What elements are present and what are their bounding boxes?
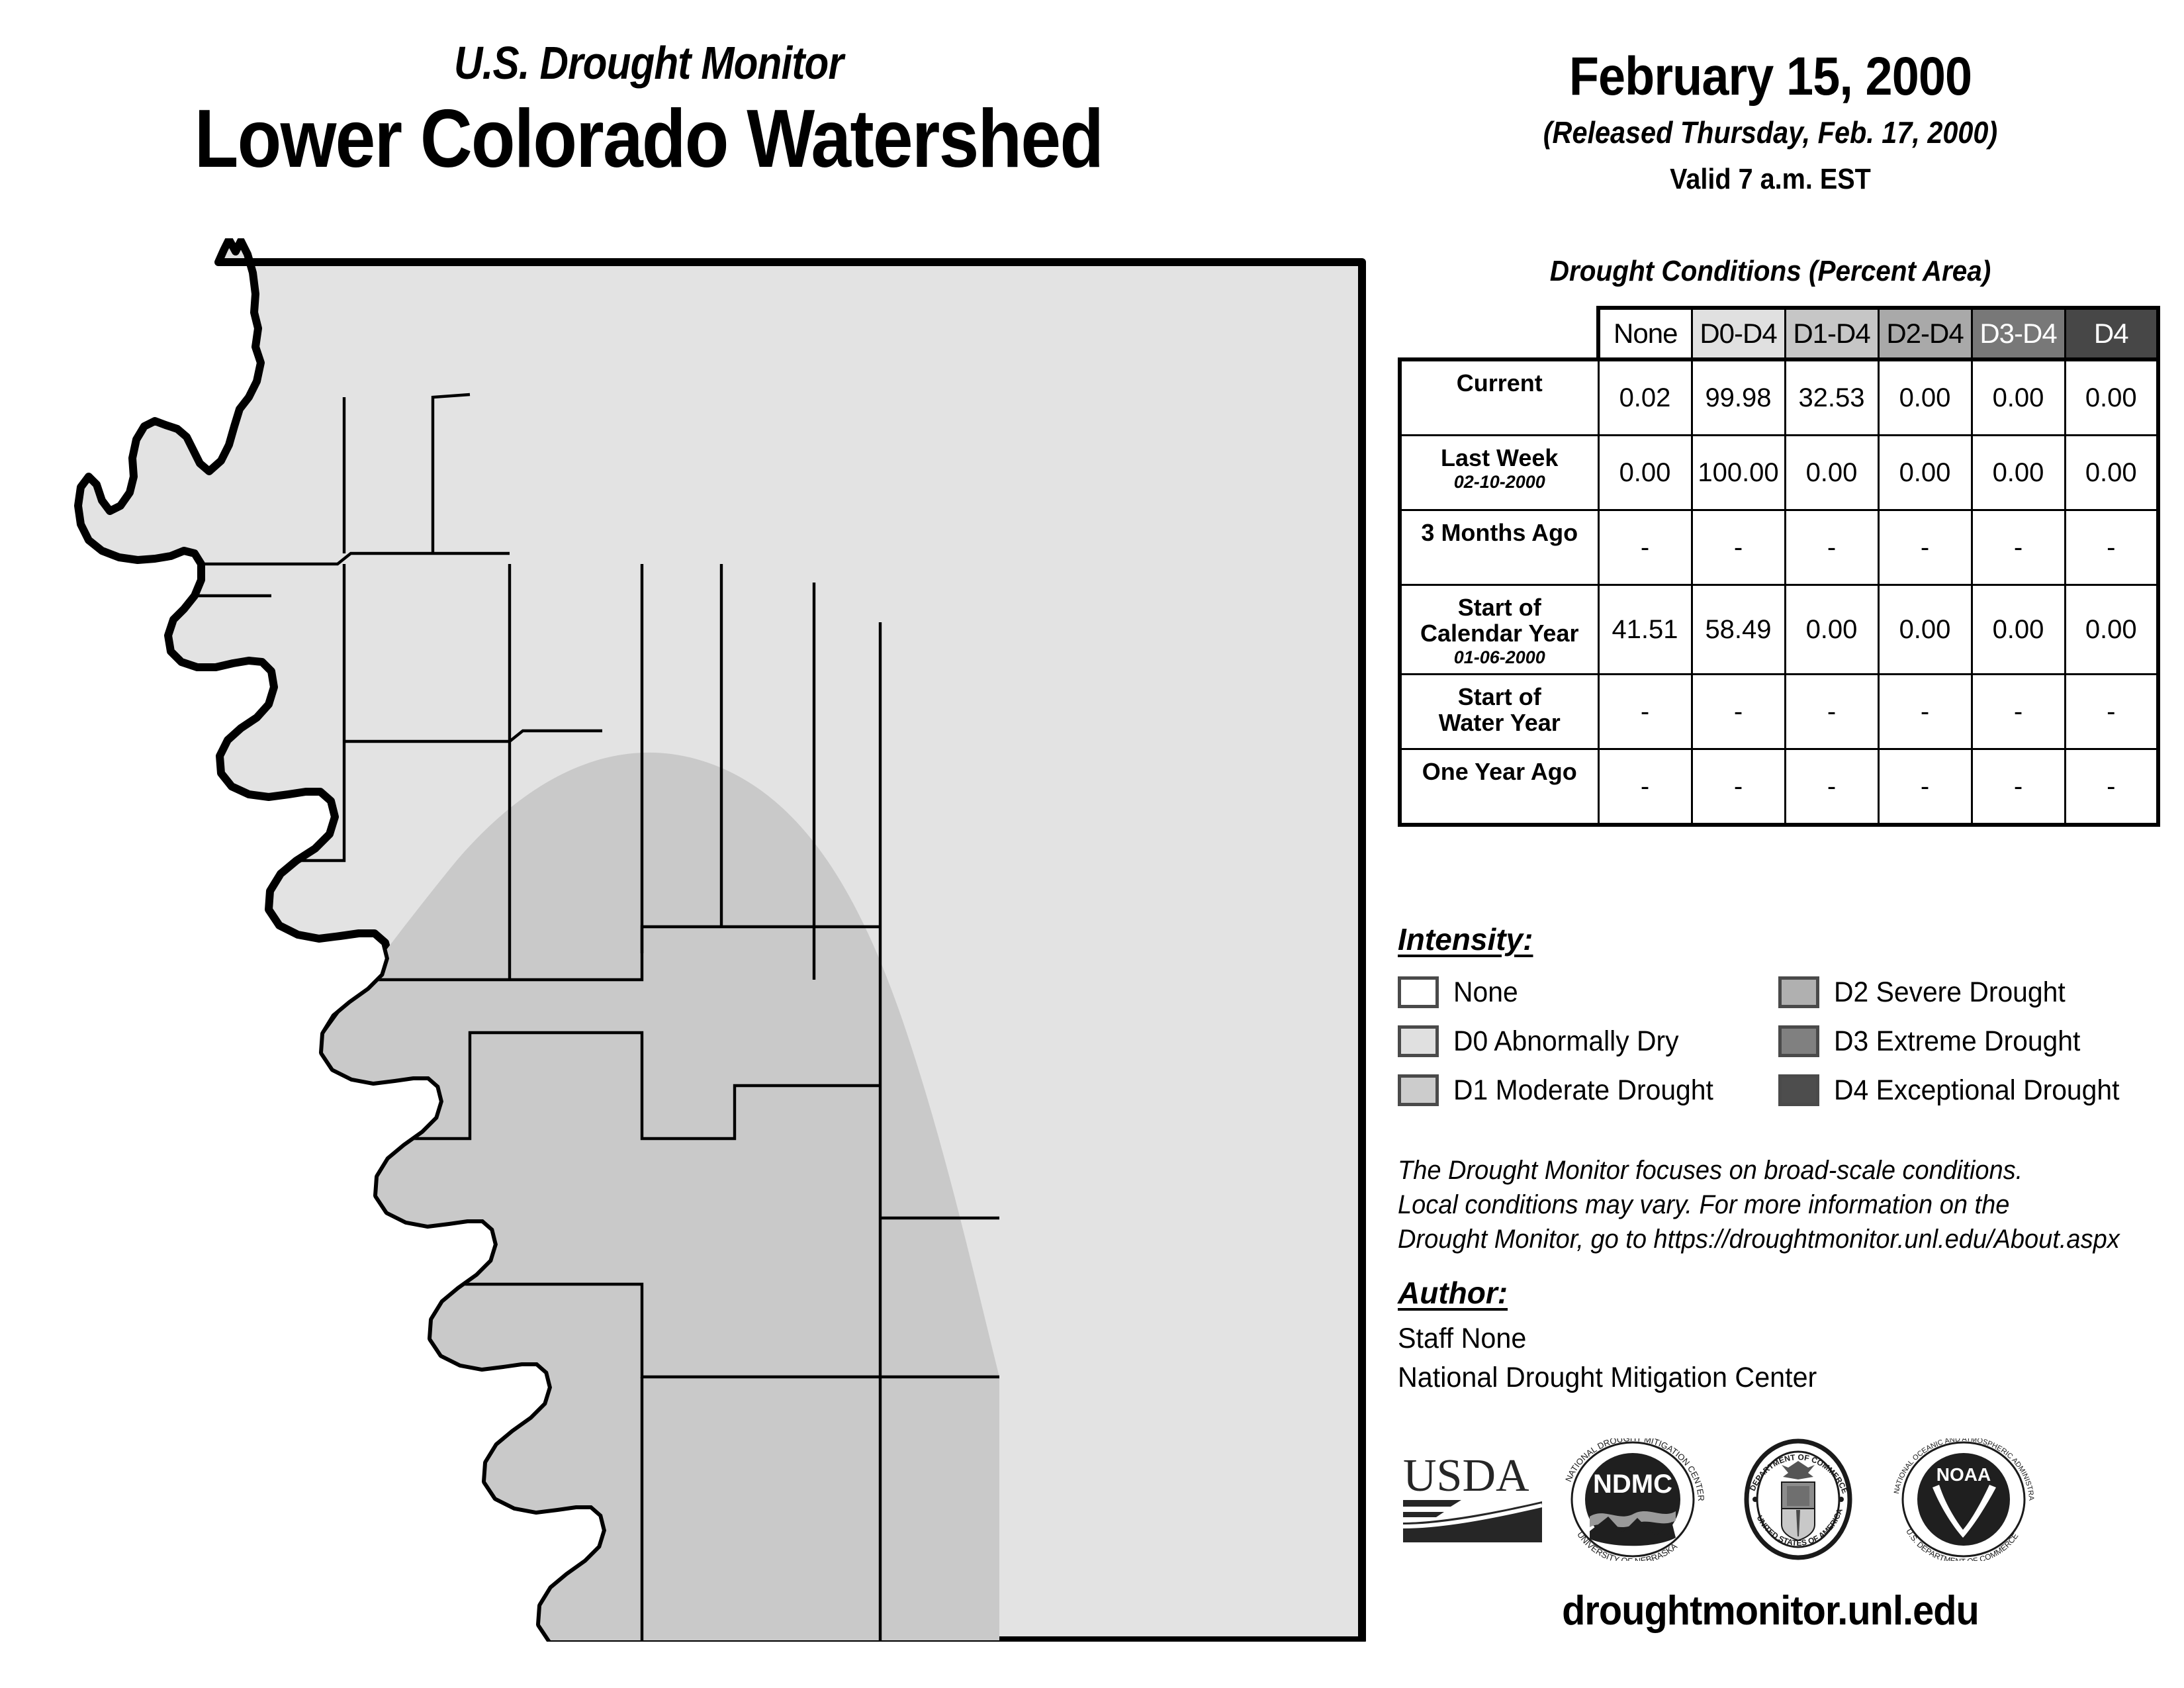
legend-label-d4: D4 Exceptional Drought bbox=[1834, 1074, 2119, 1107]
doc-star-right bbox=[1839, 1497, 1844, 1502]
cell-1yr-d2d4: - bbox=[1878, 749, 1972, 825]
cell-3mo-d3d4: - bbox=[1972, 510, 2065, 585]
cell-current-d0d4: 99.98 bbox=[1692, 359, 1785, 436]
usda-field-shape bbox=[1403, 1501, 1542, 1542]
legend-item-d1[interactable]: D1 Moderate Drought bbox=[1398, 1066, 1778, 1115]
left-panel: U.S. Drought Monitor Lower Colorado Wate… bbox=[0, 0, 1357, 1688]
noaa-logo-svg: NOAA NATIONAL OCEANIC AND ATMOSPHERIC AD… bbox=[1881, 1438, 2046, 1561]
doc-logo-svg: DEPARTMENT OF COMMERCE UNITED STATES OF … bbox=[1715, 1438, 1881, 1561]
legend-item-d0[interactable]: D0 Abnormally Dry bbox=[1398, 1017, 1778, 1066]
table-header-row: None D0-D4 D1-D4 D2-D4 D3-D4 D4 bbox=[1400, 308, 2158, 359]
swatch-d0 bbox=[1398, 1025, 1439, 1057]
cell-1yr-d0d4: - bbox=[1692, 749, 1785, 825]
drought-conditions-table: None D0-D4 D1-D4 D2-D4 D3-D4 D4 Current … bbox=[1398, 306, 2158, 827]
row-label-one-year-ago: One Year Ago bbox=[1400, 749, 1598, 825]
cell-current-d4: 0.00 bbox=[2065, 359, 2158, 436]
noaa-logo-text: NOAA bbox=[1936, 1464, 1991, 1485]
swatch-none bbox=[1398, 976, 1439, 1008]
right-panel: February 15, 2000 (Released Thursday, Fe… bbox=[1357, 0, 2184, 1688]
author-block: Staff None National Drought Mitigation C… bbox=[1398, 1319, 1817, 1398]
col-header-d4[interactable]: D4 bbox=[2065, 308, 2158, 359]
col-header-d1d4[interactable]: D1-D4 bbox=[1785, 308, 1878, 359]
table-row-start-calendar-year: Start of Calendar Year 01-06-2000 41.51 … bbox=[1400, 585, 2158, 675]
usda-stripe-1 bbox=[1403, 1500, 1461, 1507]
col-header-none[interactable]: None bbox=[1598, 308, 1692, 359]
disclaimer: The Drought Monitor focuses on broad-sca… bbox=[1398, 1153, 2146, 1256]
usda-logo[interactable]: USDA bbox=[1398, 1443, 1550, 1556]
noaa-logo[interactable]: NOAA NATIONAL OCEANIC AND ATMOSPHERIC AD… bbox=[1881, 1438, 2046, 1561]
disclaimer-line-2: Local conditions may vary. For more info… bbox=[1398, 1188, 2146, 1222]
row-label-line2: Calendar Year bbox=[1420, 620, 1578, 647]
doc-eagle bbox=[1782, 1461, 1815, 1479]
legend-label-d2: D2 Severe Drought bbox=[1834, 976, 2066, 1009]
cell-current-d3d4: 0.00 bbox=[1972, 359, 2065, 436]
doc-star-left bbox=[1752, 1497, 1758, 1502]
legend-item-d3[interactable]: D3 Extreme Drought bbox=[1778, 1017, 2165, 1066]
release-date: (Released Thursday, Feb. 17, 2000) bbox=[1398, 117, 2143, 148]
author-heading: Author: bbox=[1398, 1275, 1508, 1311]
row-label-date: 01-06-2000 bbox=[1402, 648, 1598, 667]
intensity-heading: Intensity: bbox=[1398, 921, 1533, 957]
cell-scy-none: 41.51 bbox=[1598, 585, 1692, 675]
row-label-date: 02-10-2000 bbox=[1402, 473, 1598, 492]
cell-swy-none: - bbox=[1598, 675, 1692, 749]
swatch-d3 bbox=[1778, 1025, 1819, 1057]
col-header-d2d4[interactable]: D2-D4 bbox=[1878, 308, 1972, 359]
cell-swy-d0d4: - bbox=[1692, 675, 1785, 749]
cell-3mo-d4: - bbox=[2065, 510, 2158, 585]
author-name: Staff None bbox=[1398, 1319, 1817, 1358]
row-label-text: One Year Ago bbox=[1422, 758, 1577, 785]
cell-lastweek-d0d4: 100.00 bbox=[1692, 436, 1785, 510]
supertitle: U.S. Drought Monitor bbox=[91, 40, 1206, 86]
cell-scy-d0d4: 58.49 bbox=[1692, 585, 1785, 675]
cell-swy-d4: - bbox=[2065, 675, 2158, 749]
doc-ship bbox=[1787, 1486, 1809, 1506]
logo-row: USDA NDMC NATIONAL DROUGHT MITIGATION CE… bbox=[1398, 1436, 2172, 1562]
swatch-d4 bbox=[1778, 1074, 1819, 1106]
swatch-d1 bbox=[1398, 1074, 1439, 1106]
legend-item-none[interactable]: None bbox=[1398, 968, 1778, 1017]
cell-scy-d4: 0.00 bbox=[2065, 585, 2158, 675]
row-label-start-water-year: Start of Water Year bbox=[1400, 675, 1598, 749]
cell-1yr-d4: - bbox=[2065, 749, 2158, 825]
row-label-line1: Start of bbox=[1458, 683, 1541, 710]
cell-1yr-none: - bbox=[1598, 749, 1692, 825]
cell-scy-d3d4: 0.00 bbox=[1972, 585, 2065, 675]
cell-lastweek-d3d4: 0.00 bbox=[1972, 436, 2065, 510]
cell-lastweek-d4: 0.00 bbox=[2065, 436, 2158, 510]
disclaimer-line-3[interactable]: Drought Monitor, go to https://droughtmo… bbox=[1398, 1222, 2146, 1256]
legend-item-d2[interactable]: D2 Severe Drought bbox=[1778, 968, 2165, 1017]
report-date: February 15, 2000 bbox=[1398, 50, 2143, 104]
table-row-current: Current 0.02 99.98 32.53 0.00 0.00 0.00 bbox=[1400, 359, 2158, 436]
ndmc-logo-svg: NDMC NATIONAL DROUGHT MITIGATION CENTER … bbox=[1550, 1438, 1715, 1561]
table-row-3-months-ago: 3 Months Ago - - - - - - bbox=[1400, 510, 2158, 585]
cell-scy-d1d4: 0.00 bbox=[1785, 585, 1878, 675]
row-label-text: Current bbox=[1457, 369, 1543, 397]
intensity-legend: None D2 Severe Drought D0 Abnormally Dry… bbox=[1398, 968, 2165, 1115]
disclaimer-line-1: The Drought Monitor focuses on broad-sca… bbox=[1398, 1153, 2146, 1188]
table-row-one-year-ago: One Year Ago - - - - - - bbox=[1400, 749, 2158, 825]
table-row-start-water-year: Start of Water Year - - - - - - bbox=[1400, 675, 2158, 749]
cell-3mo-none: - bbox=[1598, 510, 1692, 585]
cell-swy-d2d4: - bbox=[1878, 675, 1972, 749]
cell-3mo-d2d4: - bbox=[1878, 510, 1972, 585]
author-organization: National Drought Mitigation Center bbox=[1398, 1358, 1817, 1397]
cell-current-d1d4: 32.53 bbox=[1785, 359, 1878, 436]
doc-logo[interactable]: DEPARTMENT OF COMMERCE UNITED STATES OF … bbox=[1715, 1438, 1881, 1561]
row-label-3-months-ago: 3 Months Ago bbox=[1400, 510, 1598, 585]
legend-item-d4[interactable]: D4 Exceptional Drought bbox=[1778, 1066, 2165, 1115]
cell-3mo-d0d4: - bbox=[1692, 510, 1785, 585]
usda-stripe-2 bbox=[1403, 1512, 1444, 1517]
legend-label-d3: D3 Extreme Drought bbox=[1834, 1025, 2080, 1058]
page-title: Lower Colorado Watershed bbox=[78, 98, 1220, 180]
cell-swy-d1d4: - bbox=[1785, 675, 1878, 749]
row-label-last-week: Last Week 02-10-2000 bbox=[1400, 436, 1598, 510]
cell-scy-d2d4: 0.00 bbox=[1878, 585, 1972, 675]
date-block: February 15, 2000 (Released Thursday, Fe… bbox=[1357, 50, 2184, 194]
legend-label-d0: D0 Abnormally Dry bbox=[1453, 1025, 1679, 1058]
row-label-line1: Start of bbox=[1458, 594, 1541, 621]
row-label-current: Current bbox=[1400, 359, 1598, 436]
site-url[interactable]: droughtmonitor.unl.edu bbox=[1386, 1587, 2156, 1634]
row-label-text: 3 Months Ago bbox=[1421, 519, 1578, 546]
valid-time: Valid 7 a.m. EST bbox=[1398, 165, 2143, 194]
cell-lastweek-d1d4: 0.00 bbox=[1785, 436, 1878, 510]
cell-1yr-d1d4: - bbox=[1785, 749, 1878, 825]
table-corner-cell bbox=[1400, 308, 1598, 359]
col-header-d0d4[interactable]: D0-D4 bbox=[1692, 308, 1785, 359]
cell-current-none: 0.02 bbox=[1598, 359, 1692, 436]
col-header-d3d4[interactable]: D3-D4 bbox=[1972, 308, 2065, 359]
usda-logo-svg: USDA bbox=[1398, 1443, 1550, 1556]
drought-map[interactable] bbox=[73, 238, 1370, 1642]
table-row-last-week: Last Week 02-10-2000 0.00 100.00 0.00 0.… bbox=[1400, 436, 2158, 510]
row-label-text: Last Week bbox=[1441, 444, 1558, 471]
ndmc-logo[interactable]: NDMC NATIONAL DROUGHT MITIGATION CENTER … bbox=[1550, 1438, 1715, 1561]
table-caption: Drought Conditions (Percent Area) bbox=[1390, 255, 2151, 288]
cell-lastweek-d2d4: 0.00 bbox=[1878, 436, 1972, 510]
legend-label-d1: D1 Moderate Drought bbox=[1453, 1074, 1713, 1107]
row-label-line2: Water Year bbox=[1439, 709, 1561, 736]
cell-lastweek-none: 0.00 bbox=[1598, 436, 1692, 510]
legend-label-none: None bbox=[1453, 976, 1518, 1009]
cell-current-d2d4: 0.00 bbox=[1878, 359, 1972, 436]
cell-swy-d3d4: - bbox=[1972, 675, 2065, 749]
cell-1yr-d3d4: - bbox=[1972, 749, 2065, 825]
ndmc-logo-text: NDMC bbox=[1593, 1470, 1672, 1499]
cell-3mo-d1d4: - bbox=[1785, 510, 1878, 585]
swatch-d2 bbox=[1778, 976, 1819, 1008]
usda-logo-text: USDA bbox=[1403, 1450, 1529, 1501]
row-label-start-calendar-year: Start of Calendar Year 01-06-2000 bbox=[1400, 585, 1598, 675]
title-block: U.S. Drought Monitor Lower Colorado Wate… bbox=[0, 40, 1297, 180]
